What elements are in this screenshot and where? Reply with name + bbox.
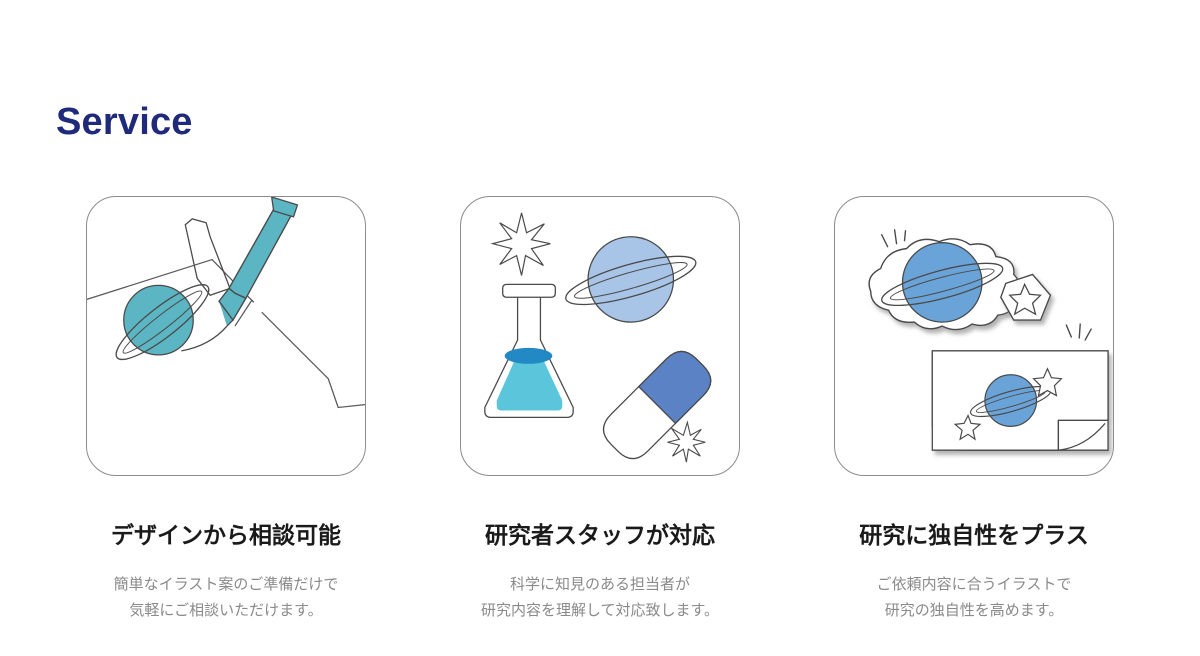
card-body-line: 研究内容を理解して対応致します。: [481, 598, 719, 624]
sticker-planet-card-illustration: [834, 196, 1114, 476]
sparkle-lines-icon: [882, 230, 906, 247]
saturn-planet-icon: [108, 275, 217, 369]
service-card-research-originality: 研究に独自性をプラス ご依頼内容に合うイラストで 研究の独自性を高めます。: [833, 196, 1115, 624]
card-heading: 研究に独自性をプラス: [859, 522, 1089, 550]
card-body-line: 科学に知見のある担当者が: [481, 572, 719, 598]
sparkle-icon: [668, 422, 706, 462]
sparkle-lines-icon: [1066, 324, 1091, 340]
service-card-design-consultation: デザインから相談可能 簡単なイラスト案のご準備だけで 気軽にご相談いただけます。: [85, 196, 367, 624]
card-heading: 研究者スタッフが対応: [485, 522, 715, 550]
sparkle-icon: [493, 213, 551, 276]
card-body: ご依頼内容に合うイラストで 研究の独自性を高めます。: [877, 572, 1072, 625]
page-title: Service: [56, 103, 193, 141]
card-heading: デザインから相談可能: [111, 522, 341, 550]
card-body-line: 研究の独自性を高めます。: [877, 598, 1072, 624]
card-body: 簡単なイラスト案のご準備だけで 気軽にご相談いただけます。: [114, 572, 339, 625]
stylus-pen-icon: [185, 197, 297, 326]
saturn-planet-icon: [562, 237, 701, 322]
planet-sticker-icon: [869, 239, 1020, 330]
pen-drawing-planet-illustration: [86, 196, 366, 476]
card-body-line: 簡単なイラスト案のご準備だけで: [114, 572, 339, 598]
service-cards-row: デザインから相談可能 簡単なイラスト案のご準備だけで 気軽にご相談いただけます。: [0, 196, 1200, 624]
card-body-line: ご依頼内容に合うイラストで: [877, 572, 1072, 598]
card-body-line: 気軽にご相談いただけます。: [114, 598, 339, 624]
erlenmeyer-flask-icon: [485, 284, 573, 417]
card-body: 科学に知見のある担当者が 研究内容を理解して対応致します。: [481, 572, 719, 625]
service-card-researcher-staff: 研究者スタッフが対応 科学に知見のある担当者が 研究内容を理解して対応致します。: [459, 196, 741, 624]
science-objects-illustration: [460, 196, 740, 476]
illustration-card-icon: [932, 351, 1108, 450]
